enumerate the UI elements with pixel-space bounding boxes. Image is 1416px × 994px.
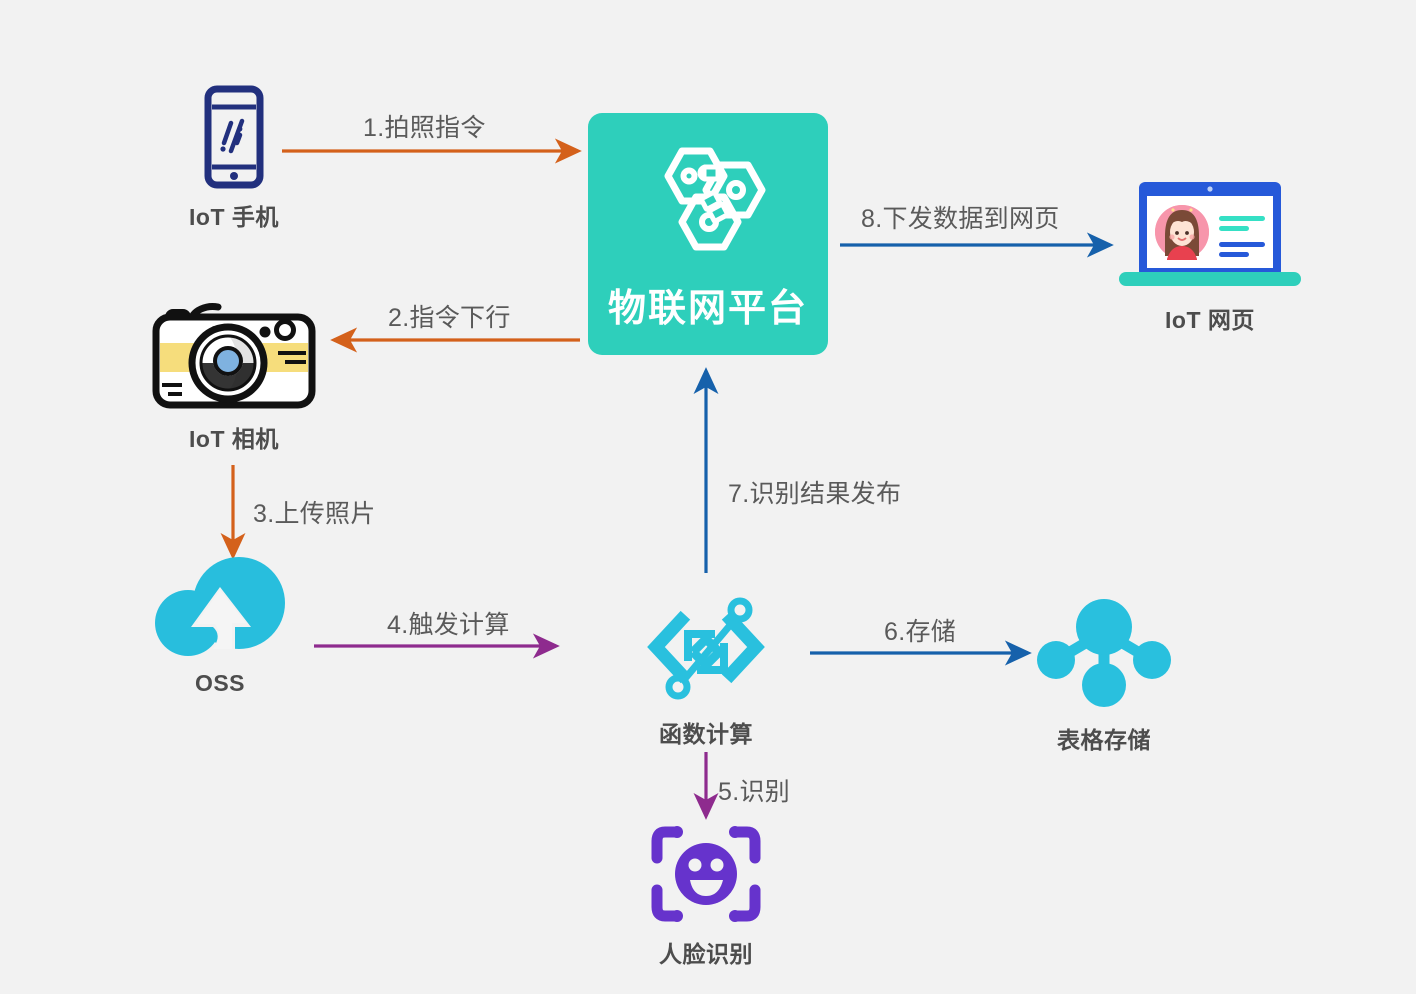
edge-label-6: 6.存储 [884, 612, 956, 648]
edge-label-3: 3.上传照片 [253, 494, 376, 530]
node-iot-phone[interactable]: IoT 手机 [160, 85, 308, 232]
node-label-face-recognition: 人脸识别 [659, 935, 753, 969]
node-label-iot-phone: IoT 手机 [189, 198, 279, 232]
laptop-icon [1115, 180, 1305, 292]
node-label-iot-platform: 物联网平台 [608, 277, 808, 332]
node-label-tablestore: 表格存储 [1057, 721, 1151, 755]
node-iot-platform[interactable]: 物联网平台 [588, 113, 828, 355]
node-graph-icon [1034, 596, 1174, 712]
code-brackets-icon [645, 588, 767, 706]
camera-icon [148, 293, 320, 411]
edge-label-1: 1.拍照指令 [363, 108, 486, 144]
diagram-canvas: 1.拍照指令 2.指令下行 3.上传照片 4.触发计算 5.识别 6.存储 7.… [0, 0, 1416, 994]
smartphone-icon [193, 85, 275, 189]
edge-label-5: 5.识别 [718, 772, 790, 808]
node-label-iot-web: IoT 网页 [1165, 301, 1255, 335]
node-iot-web[interactable]: IoT 网页 [1110, 180, 1310, 335]
cloud-upload-icon [153, 557, 287, 661]
edge-label-7: 7.识别结果发布 [728, 474, 901, 510]
node-oss[interactable]: OSS [145, 557, 295, 697]
node-iot-camera[interactable]: IoT 相机 [148, 293, 320, 454]
node-function-compute[interactable]: 函数计算 [630, 588, 782, 749]
hexagon-network-icon [646, 139, 770, 265]
node-label-oss: OSS [195, 670, 245, 697]
node-label-function-compute: 函数计算 [659, 715, 753, 749]
node-tablestore[interactable]: 表格存储 [1030, 596, 1178, 755]
edge-label-2: 2.指令下行 [388, 298, 511, 334]
edge-label-8: 8.下发数据到网页 [861, 199, 1060, 235]
face-scan-icon [647, 822, 765, 926]
node-label-iot-camera: IoT 相机 [189, 420, 279, 454]
edge-label-4: 4.触发计算 [387, 605, 510, 641]
node-face-recognition[interactable]: 人脸识别 [640, 822, 772, 969]
